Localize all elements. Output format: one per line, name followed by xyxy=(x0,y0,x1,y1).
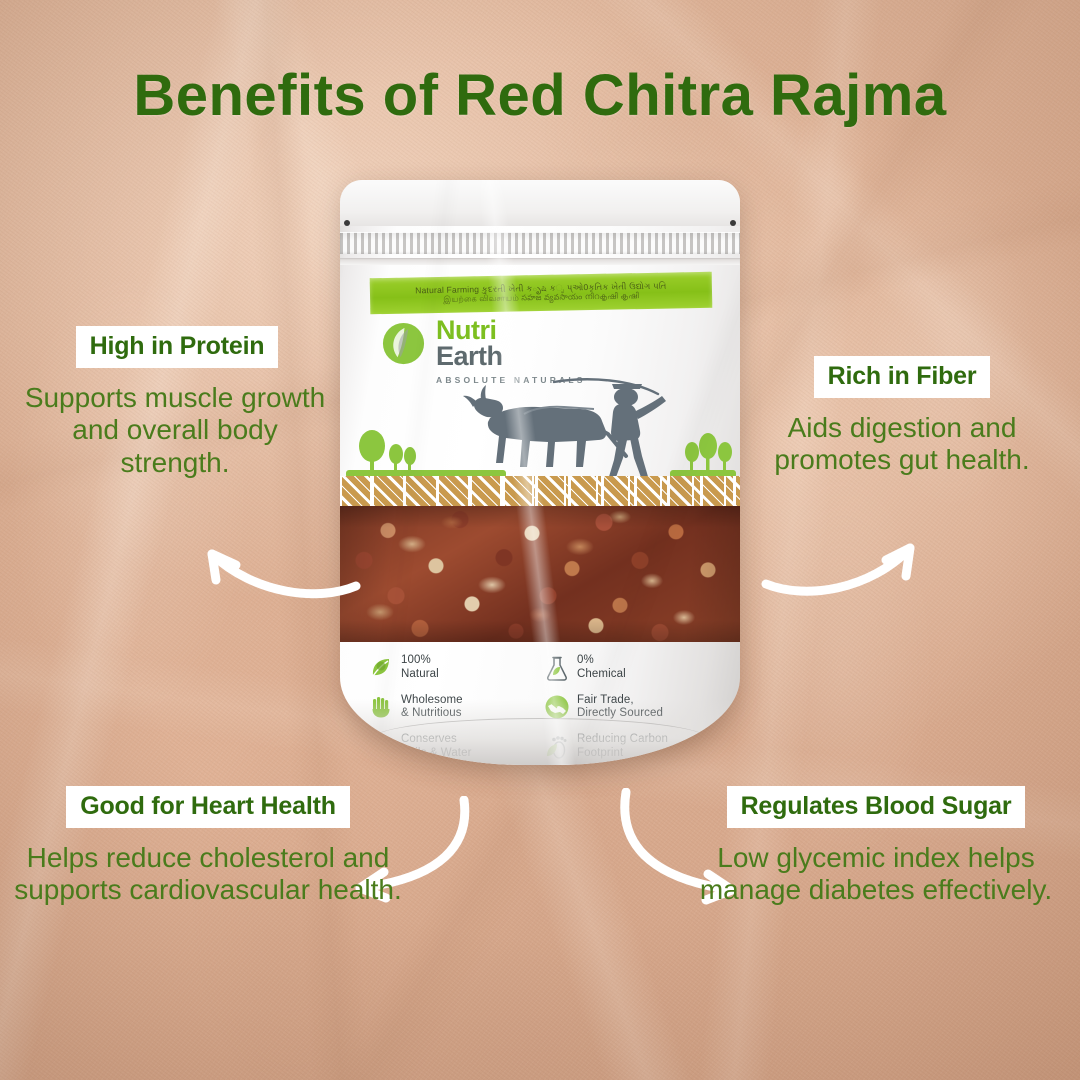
product-package: Natural Farming કુદરતી ખેતી કృಷಿ કೃ પ્ઓ0… xyxy=(340,180,740,770)
package-body: Natural Farming કુદરતી ખેતી કృಷಿ કೃ પ્ઓ0… xyxy=(340,180,740,765)
infographic-canvas: Benefits of Red Chitra Rajma Natural Far… xyxy=(0,0,1080,1080)
benefit-high-in-protein: High in Protein Supports muscle growth a… xyxy=(18,326,336,479)
benefit-description: Helps reduce cholesterol and supports ca… xyxy=(8,842,408,907)
benefit-description: Aids digestion and promotes gut health. xyxy=(742,412,1062,477)
benefit-description: Supports muscle growth and overall body … xyxy=(14,382,336,479)
benefit-description: Low glycemic index helps manage diabetes… xyxy=(676,842,1076,907)
benefit-regulates-blood-sugar: Regulates Blood Sugar Low glycemic index… xyxy=(676,786,1076,907)
page-title: Benefits of Red Chitra Rajma xyxy=(0,62,1080,129)
benefit-heading: Good for Heart Health xyxy=(66,786,350,828)
benefit-heading: Regulates Blood Sugar xyxy=(727,786,1026,828)
benefit-heading: High in Protein xyxy=(76,326,279,368)
benefit-good-for-heart-health: Good for Heart Health Helps reduce chole… xyxy=(8,786,408,907)
benefit-rich-in-fiber: Rich in Fiber Aids digestion and promote… xyxy=(742,356,1062,477)
package-sheen xyxy=(340,180,740,765)
benefit-heading: Rich in Fiber xyxy=(814,356,991,398)
